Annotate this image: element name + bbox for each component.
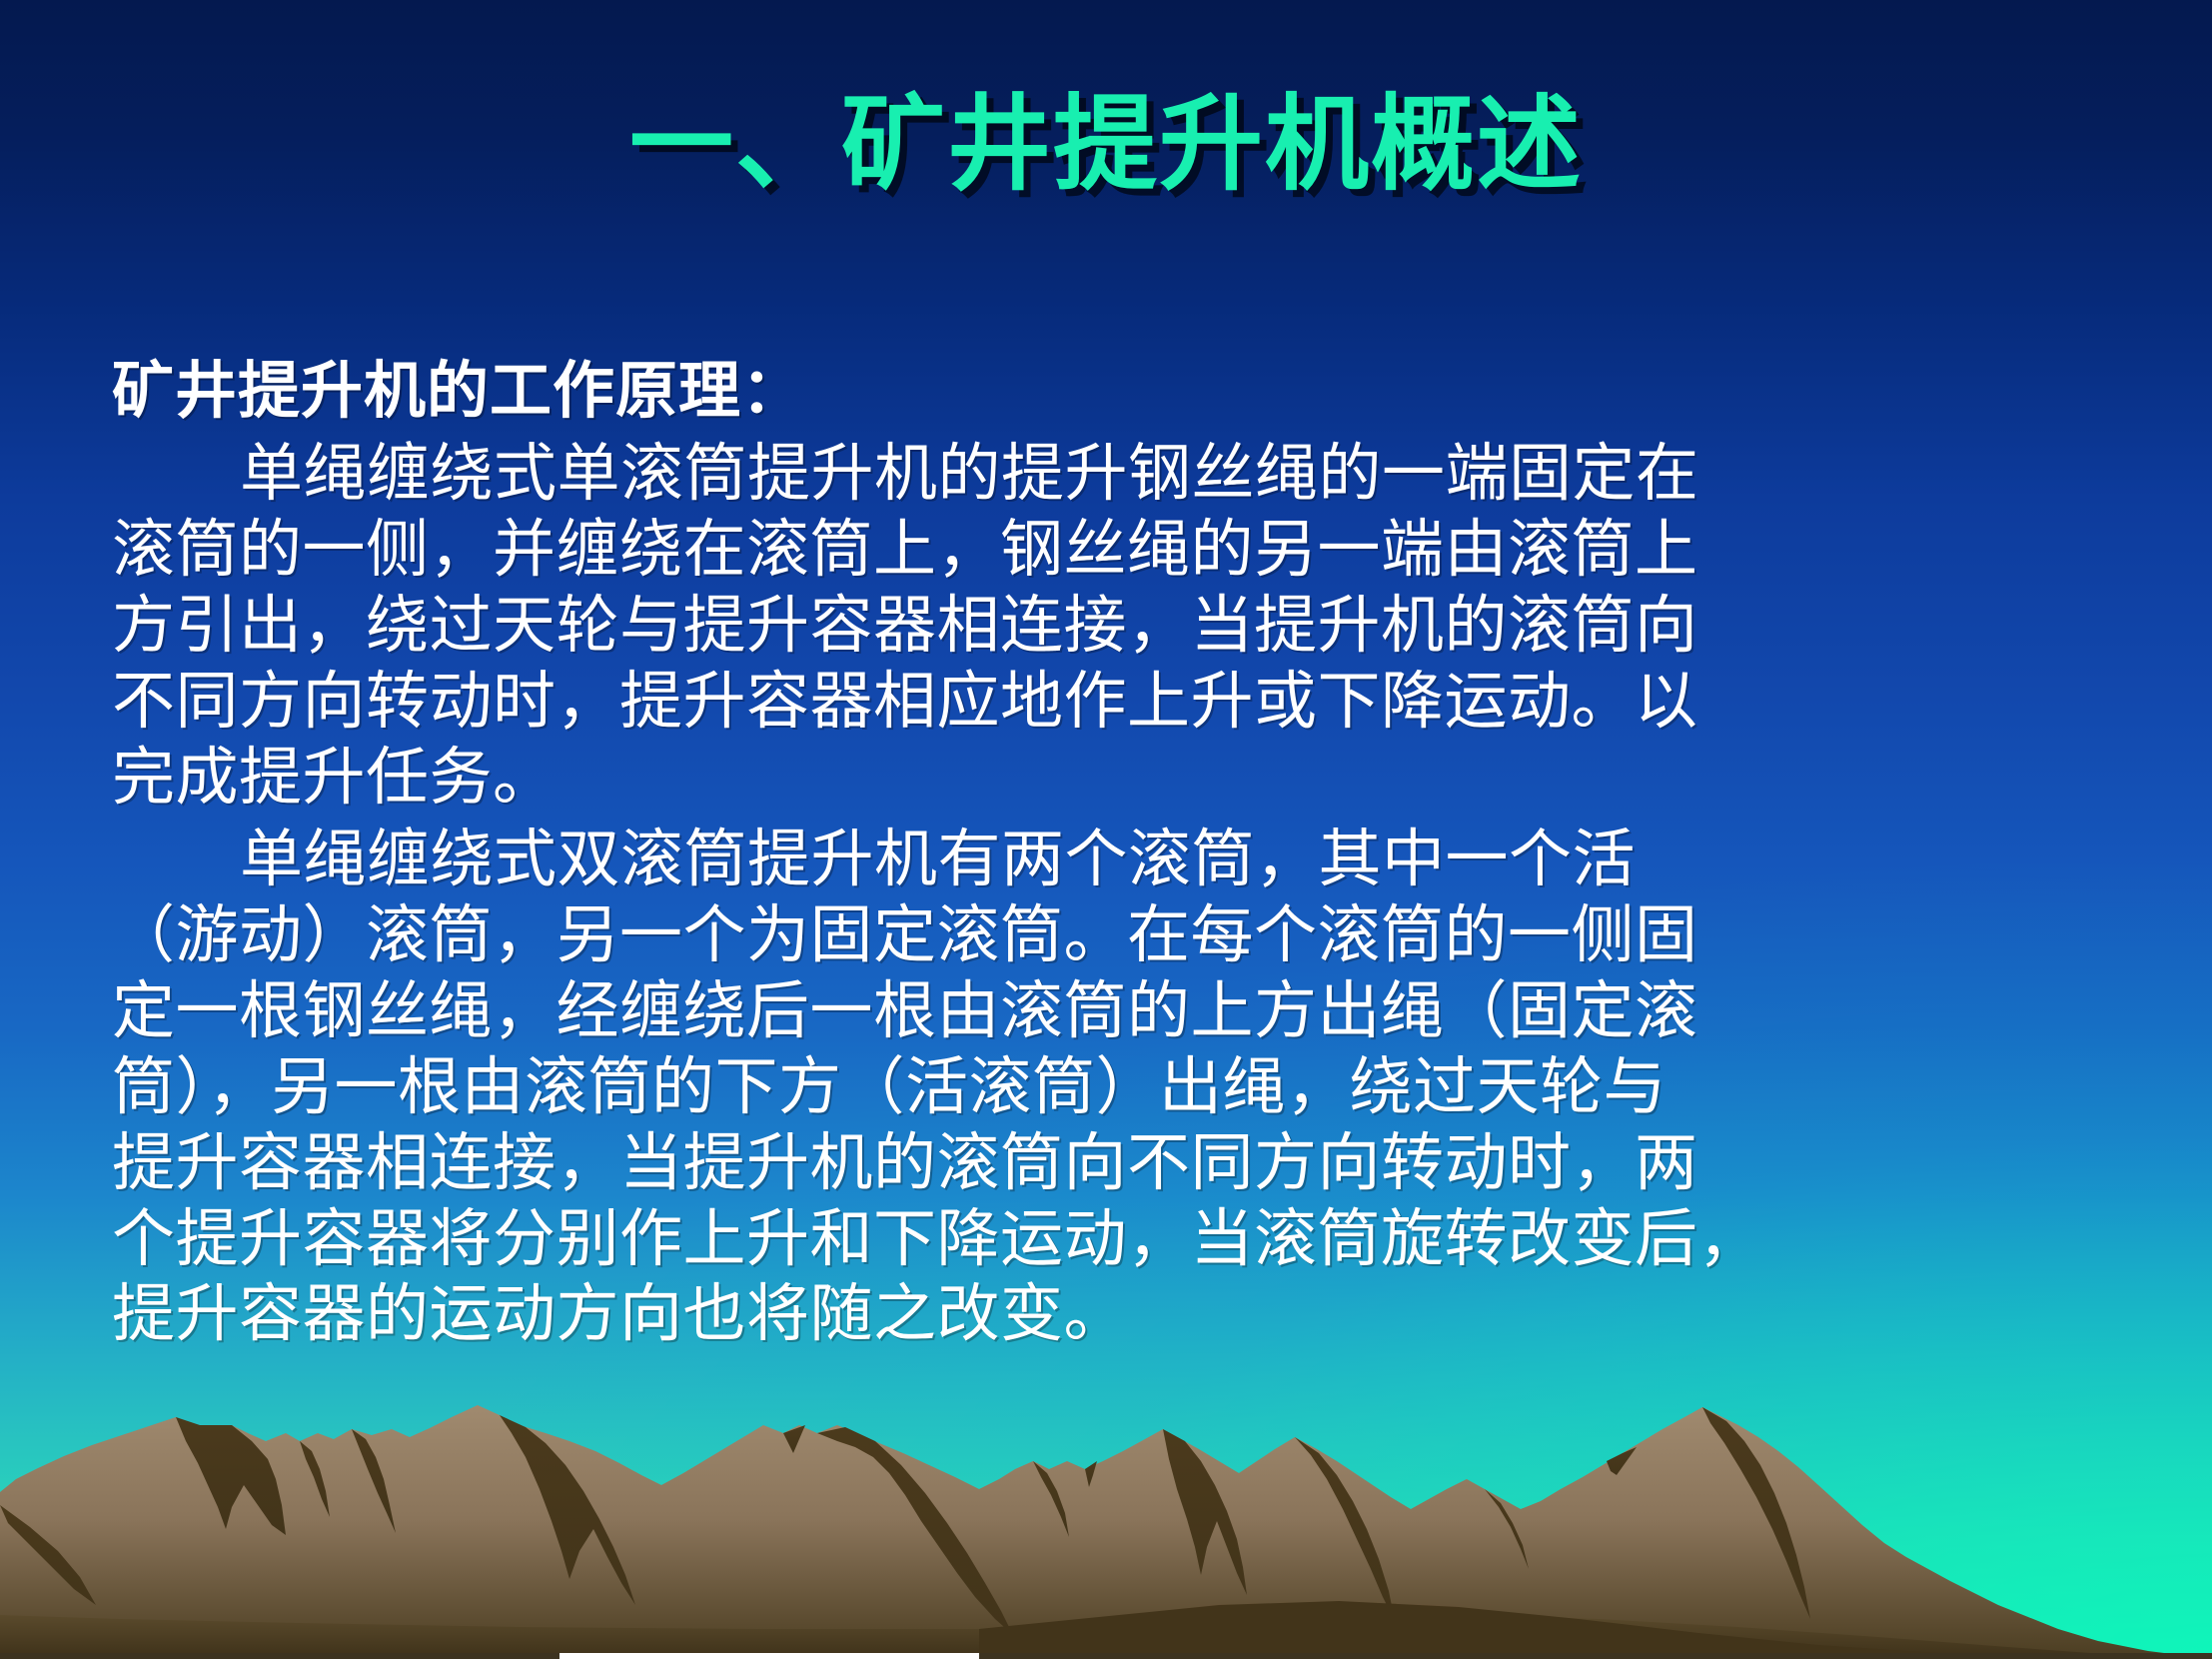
paragraph-2-line: 定一根钢丝绳，经缠绕后一根由滚筒的上方出绳（固定滚 bbox=[112, 974, 2100, 1050]
paragraph-1-line: 完成提升任务。 bbox=[112, 741, 2100, 817]
mountain-range-silhouette bbox=[0, 1329, 2212, 1659]
paragraph-1-line: 方引出，绕过天轮与提升容器相连接，当提升机的滚筒向 bbox=[112, 589, 2100, 665]
bottom-strip-highlight bbox=[559, 1653, 979, 1659]
paragraph-2-line: 单绳缠绕式双滚筒提升机有两个滚筒，其中一个活 bbox=[112, 823, 2100, 898]
bottom-strip-right bbox=[979, 1653, 2212, 1659]
paragraph-1-line: 滚筒的一侧，并缠绕在滚筒上，钢丝绳的另一端由滚筒上 bbox=[112, 513, 2100, 589]
bottom-status-strip bbox=[0, 1653, 2212, 1659]
body-heading: 矿井提升机的工作原理： bbox=[112, 358, 2100, 427]
bottom-strip-left bbox=[0, 1653, 559, 1659]
paragraph-2-line: 个提升容器将分别作上升和下降运动，当滚筒旋转改变后， bbox=[112, 1202, 2100, 1278]
presentation-slide: 一、矿井提升机概述 矿井提升机的工作原理： 单绳缠绕式单滚筒提升机的提升钢丝绳的… bbox=[0, 0, 2212, 1659]
paragraph-2-line: 筒），另一根由滚筒的下方（活滚筒）出绳，绕过天轮与 bbox=[112, 1050, 2100, 1126]
paragraph-2: 单绳缠绕式双滚筒提升机有两个滚筒，其中一个活 （游动）滚筒，另一个为固定滚筒。在… bbox=[112, 823, 2100, 1353]
paragraph-2-line: 提升容器相连接，当提升机的滚筒向不同方向转动时，两 bbox=[112, 1126, 2100, 1202]
slide-body: 矿井提升机的工作原理： 单绳缠绕式单滚筒提升机的提升钢丝绳的一端固定在 滚筒的一… bbox=[112, 358, 2100, 1353]
slide-title: 一、矿井提升机概述 bbox=[0, 92, 2212, 200]
paragraph-1-line: 单绳缠绕式单滚筒提升机的提升钢丝绳的一端固定在 bbox=[112, 437, 2100, 513]
mountain-range-svg bbox=[0, 1329, 2212, 1659]
paragraph-1-line: 不同方向转动时，提升容器相应地作上升或下降运动。以 bbox=[112, 665, 2100, 741]
paragraph-1: 单绳缠绕式单滚筒提升机的提升钢丝绳的一端固定在 滚筒的一侧，并缠绕在滚筒上，钢丝… bbox=[112, 437, 2100, 817]
paragraph-2-line: （游动）滚筒，另一个为固定滚筒。在每个滚筒的一侧固 bbox=[112, 898, 2100, 974]
